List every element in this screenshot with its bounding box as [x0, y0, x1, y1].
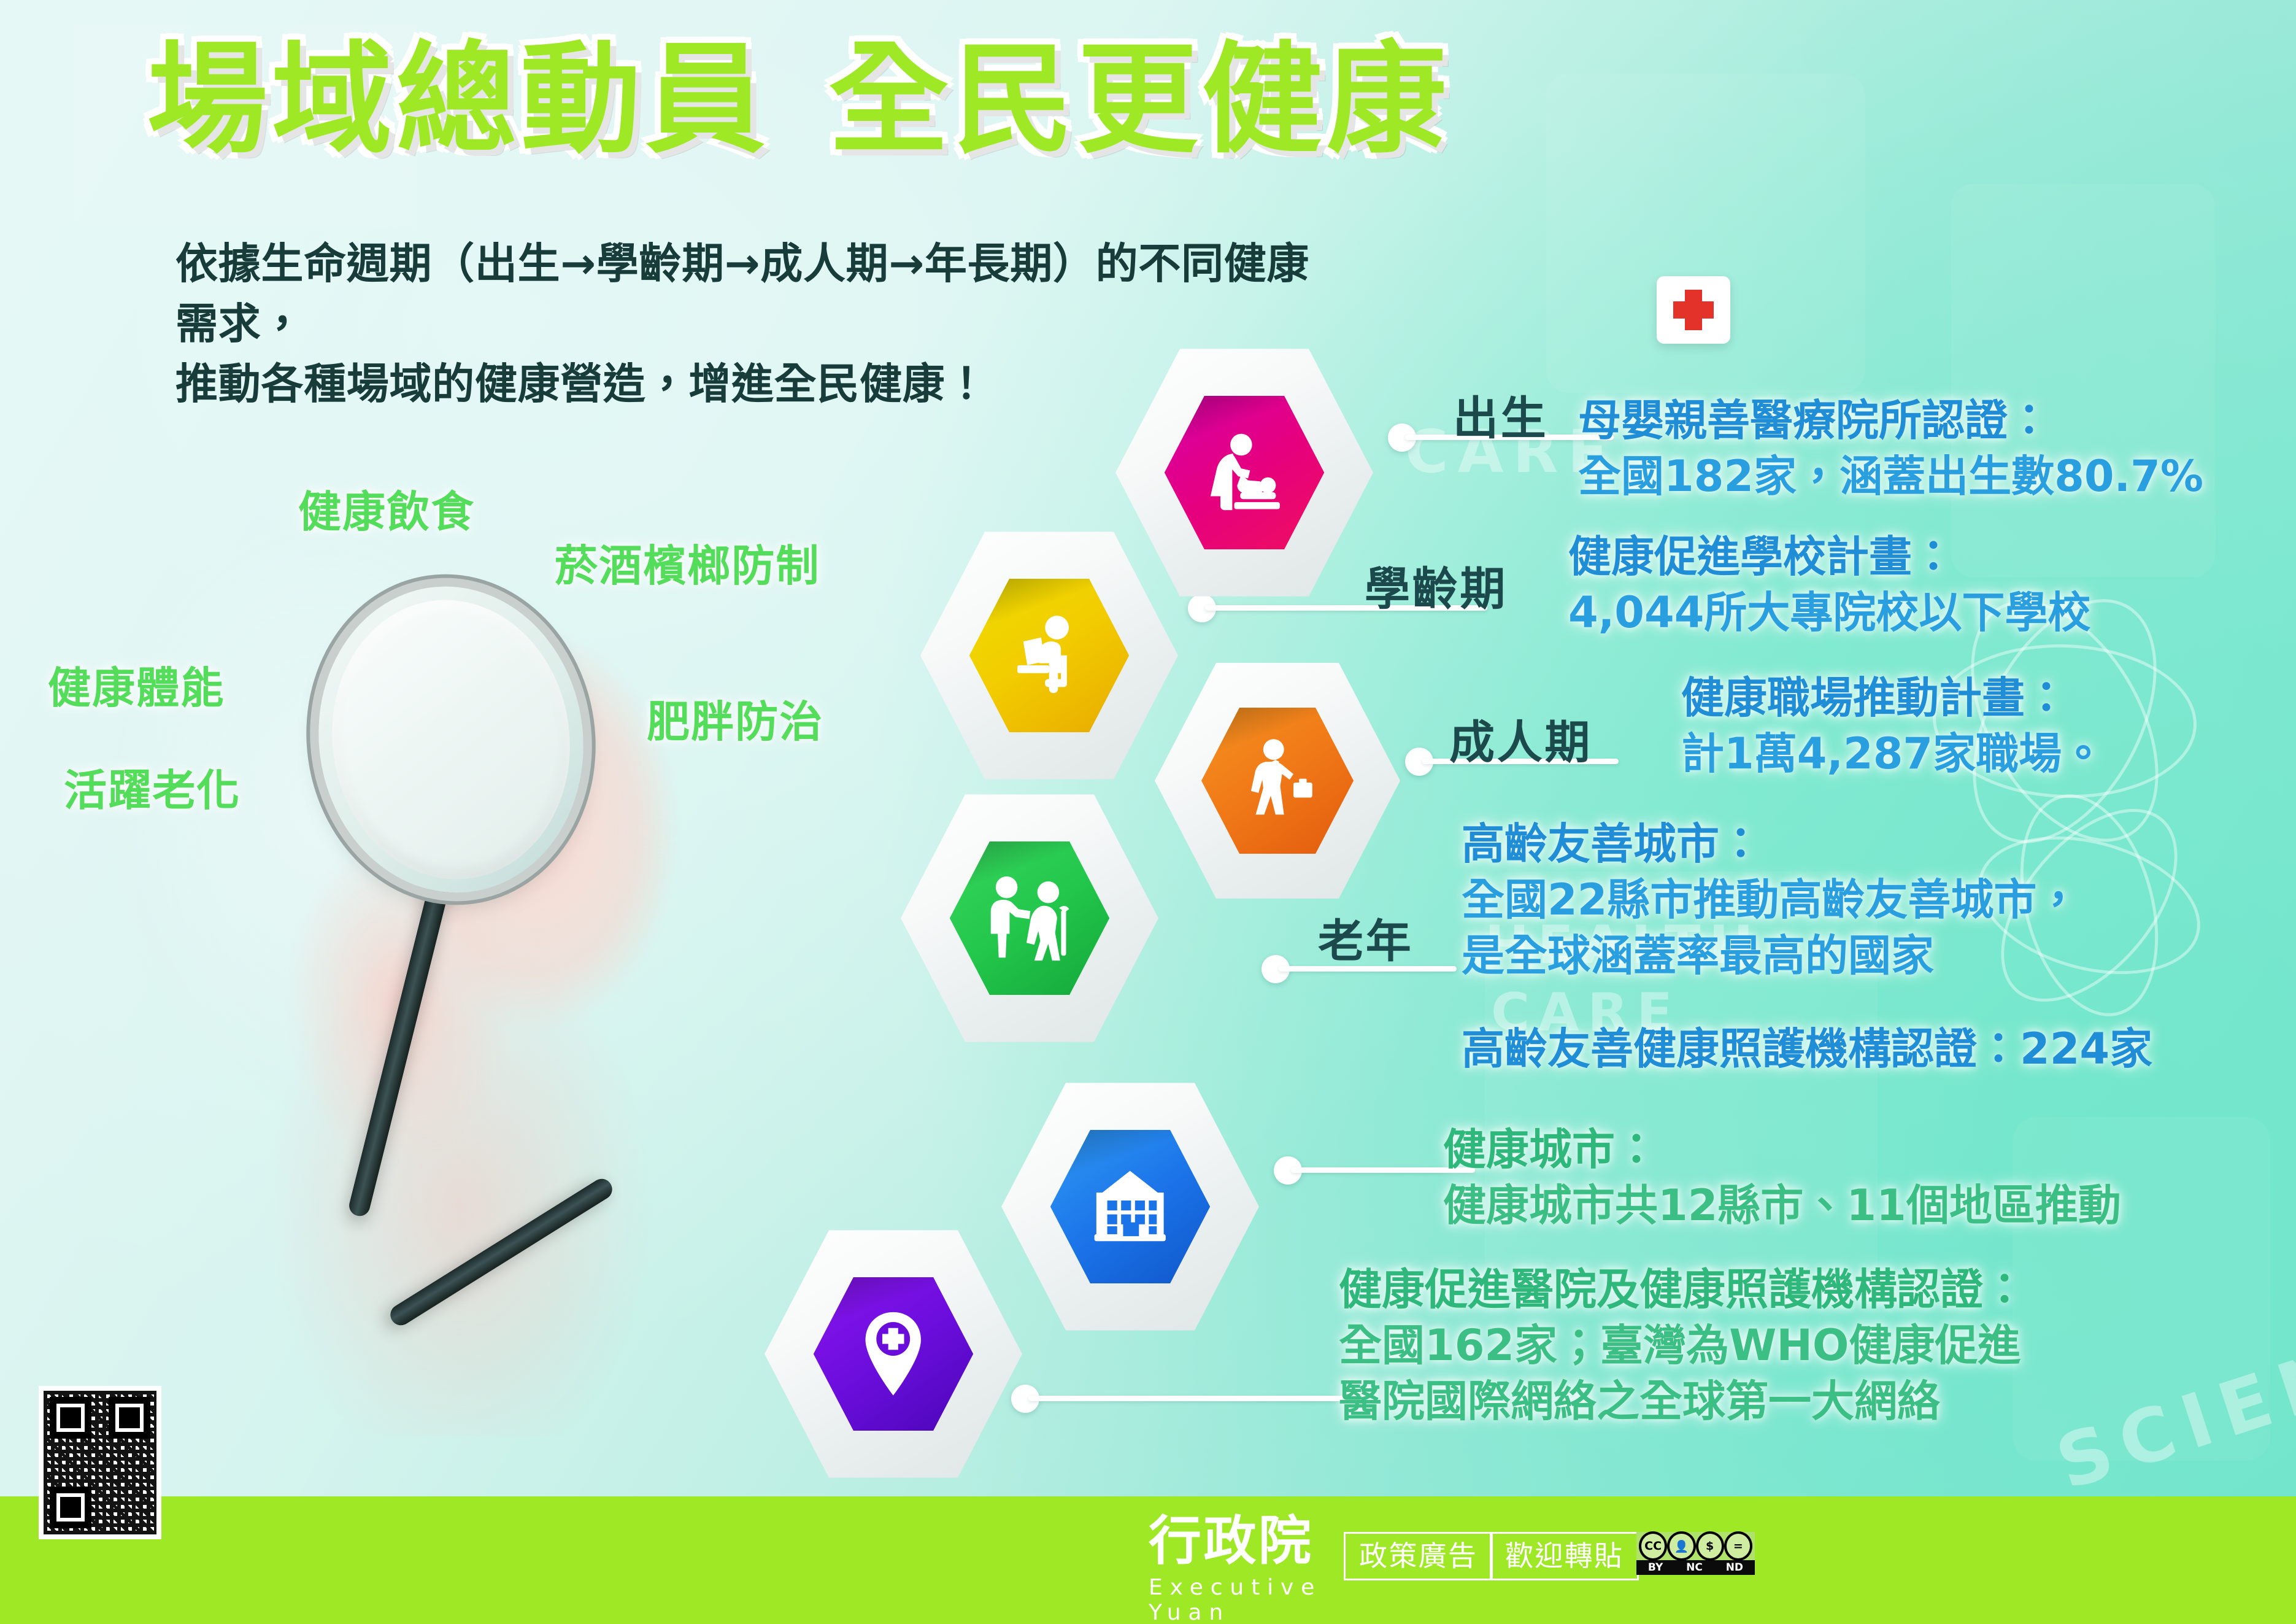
info-block-age-friendly-care: 高齡友善健康照護機構認證：224家: [1462, 1021, 2152, 1077]
info-body-line: 全國182家，涵蓋出生數80.7%: [1578, 449, 2203, 505]
stethoscope-tube: [387, 1175, 616, 1329]
info-body-line: 全國162家；臺灣為WHO健康促進: [1339, 1318, 2026, 1374]
info-heading: 高齡友善健康照護機構認證：224家: [1462, 1021, 2152, 1077]
cc-label-nd: ND: [1726, 1561, 1743, 1574]
theme-label-tobacco-control: 菸酒檳榔防制: [555, 532, 820, 594]
info-block-health-school: 健康促進學校計畫： 4,044所大專院校以下學校: [1568, 529, 2090, 641]
logo-chinese-name: 行政院: [1149, 1515, 1351, 1568]
stage-label-elderly: 老年: [1318, 905, 1413, 970]
hexagon-adult[interactable]: [1155, 658, 1400, 903]
stethoscope-head: [299, 570, 603, 910]
info-block-healthy-city: 健康城市： 健康城市共12縣市、11個地區推動: [1443, 1122, 2121, 1234]
watermark-science: SCIENCE: [2047, 1291, 2296, 1506]
stage-label-school-age: 學齡期: [1365, 552, 1508, 618]
info-body-line: 醫院國際網絡之全球第一大網絡: [1339, 1374, 2026, 1429]
page-title: 場域總動員全民更健康: [147, 37, 1451, 164]
title-line-2: 全民更健康: [828, 30, 1450, 170]
qr-finder-pattern: [50, 1397, 91, 1439]
cc-icons: CC 👤 $ =: [1636, 1532, 1755, 1560]
info-body-line: 4,044所大專院校以下學校: [1568, 585, 2090, 641]
info-block-hph-accreditation: 健康促進醫院及健康照護機構認證： 全國162家；臺灣為WHO健康促進 醫院國際網…: [1339, 1262, 2026, 1429]
footer-bar: 行政院 Executive Yuan 政策廣告 歡迎轉貼 CC 👤 $ = BY…: [0, 1496, 2296, 1624]
qr-finder-pattern: [109, 1397, 150, 1439]
theme-label-fitness: 健康體能: [48, 654, 225, 716]
theme-label-healthy-diet: 健康飲食: [298, 478, 475, 539]
connector-line: [1028, 1396, 1360, 1401]
policy-ad-badge[interactable]: 政策廣告: [1344, 1532, 1493, 1580]
info-heading: 健康促進醫院及健康照護機構認證：: [1339, 1262, 2026, 1318]
info-heading: 健康城市：: [1443, 1122, 2121, 1178]
stage-label-birth: 出生: [1453, 382, 1548, 447]
qr-finder-pattern: [50, 1487, 91, 1528]
info-heading: 健康職場推動計畫：: [1681, 670, 2105, 726]
info-block-baby-friendly: 母嬰親善醫療院所認證： 全國182家，涵蓋出生數80.7%: [1578, 393, 2203, 505]
cc-nc-icon: $: [1696, 1531, 1724, 1561]
info-heading: 健康促進學校計畫：: [1568, 529, 2090, 585]
subtitle-line-1: 依據生命週期（出生→學齡期→成人期→年長期）的不同健康需求，: [175, 234, 1341, 355]
info-body-line: 計1萬4,287家職場。: [1681, 726, 2105, 782]
info-block-age-friendly-city: 高齡友善城市： 全國22縣市推動高齡友善城市， 是全球涵蓋率最高的國家: [1462, 816, 2079, 984]
stage-label-adult: 成人期: [1449, 706, 1592, 771]
hexagon-hospital-accreditation[interactable]: [765, 1225, 1022, 1483]
cc-by-icon: 👤: [1667, 1531, 1695, 1561]
title-line-1: 場域總動員: [147, 30, 769, 170]
cc-nd-icon: =: [1724, 1531, 1752, 1561]
qr-code[interactable]: [39, 1386, 161, 1539]
repost-welcome-badge[interactable]: 歡迎轉貼: [1490, 1532, 1639, 1580]
stethoscope-tube: [347, 844, 460, 1218]
poster-canvas: CARE HEALTH CARE SCIENCE 場域總動員全民更健康 依據生命…: [0, 0, 2296, 1624]
bg-panel: [1546, 74, 1865, 393]
hexagon-school-age[interactable]: [920, 527, 1178, 784]
info-body-line: 全國22縣市推動高齡友善城市，: [1462, 872, 2079, 928]
theme-label-active-ageing: 活躍老化: [64, 756, 241, 818]
bg-panel: [1951, 184, 2215, 577]
info-block-health-workplace: 健康職場推動計畫： 計1萬4,287家職場。: [1681, 670, 2105, 782]
hexagon-healthy-city[interactable]: [1001, 1078, 1259, 1336]
creative-commons-badge[interactable]: CC 👤 $ = BY NC ND: [1636, 1532, 1755, 1575]
first-aid-kit-icon: [1657, 276, 1730, 344]
logo-english-name: Executive Yuan: [1149, 1575, 1351, 1624]
cc-icon: CC: [1639, 1531, 1667, 1561]
info-heading: 母嬰親善醫療院所認證：: [1578, 393, 2203, 449]
executive-yuan-logo: 行政院 Executive Yuan: [1149, 1515, 1351, 1613]
cc-labels: BY NC ND: [1636, 1560, 1755, 1575]
theme-label-obesity-control: 肥胖防治: [647, 687, 823, 749]
info-body-line: 是全球涵蓋率最高的國家: [1462, 928, 2079, 984]
hexagon-elderly[interactable]: [901, 789, 1158, 1047]
info-heading: 高齡友善城市：: [1462, 816, 2079, 872]
cc-label-by: BY: [1648, 1561, 1663, 1574]
info-body-line: 健康城市共12縣市、11個地區推動: [1443, 1178, 2121, 1234]
cc-label-nc: NC: [1686, 1561, 1703, 1574]
